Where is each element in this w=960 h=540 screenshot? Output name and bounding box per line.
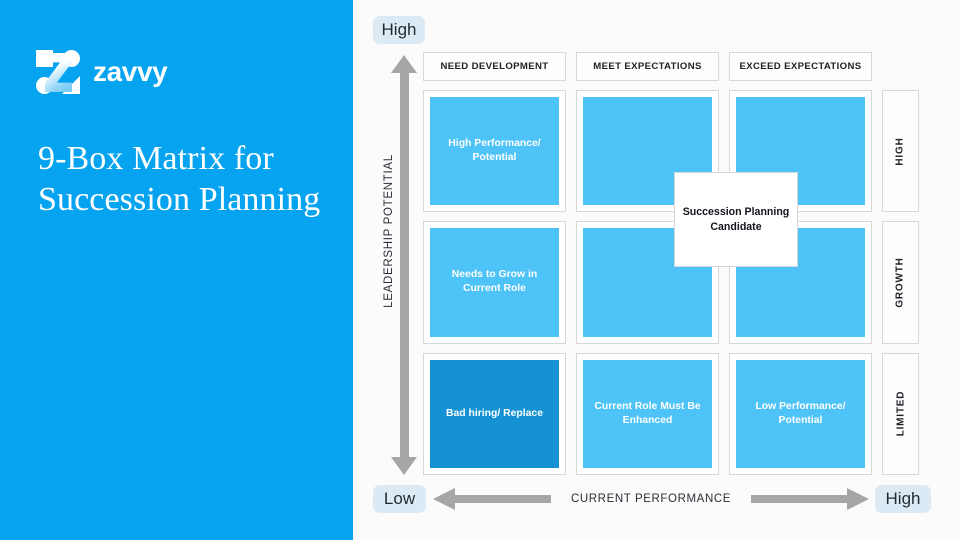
cell-growth-need-development[interactable]: Needs to Grow in Current Role <box>423 221 566 343</box>
arrow-left-icon <box>433 488 551 510</box>
arrow-right-head <box>847 488 869 510</box>
cell-limited-exceed-expectations[interactable]: Low Performance/ Potential <box>729 353 872 475</box>
cell-tile: Low Performance/ Potential <box>736 360 865 468</box>
cell-tile: Current Role Must Be Enhanced <box>583 360 712 468</box>
column-header-meet-expectations: MEET EXPECTATIONS <box>576 52 719 81</box>
cell-high-need-development[interactable]: High Performance/ Potential <box>423 90 566 212</box>
nine-box-grid: NEED DEVELOPMENT MEET EXPECTATIONS EXCEE… <box>423 52 919 475</box>
row-label-text: HIGH <box>895 137 906 165</box>
row-label-limited: LIMITED <box>882 353 919 475</box>
arrow-shaft <box>451 495 551 503</box>
arrow-shaft <box>751 495 851 503</box>
column-header-need-development: NEED DEVELOPMENT <box>423 52 566 81</box>
brand-name: zavvy <box>93 56 167 88</box>
x-axis-label: CURRENT PERFORMANCE <box>551 493 751 505</box>
cell-tile: Bad hiring/ Replace <box>430 360 559 468</box>
x-axis: CURRENT PERFORMANCE <box>433 485 869 513</box>
cell-limited-need-development[interactable]: Bad hiring/ Replace <box>423 353 566 475</box>
arrow-down-head <box>391 457 417 475</box>
arrow-right-icon <box>751 488 869 510</box>
row-label-high: HIGH <box>882 90 919 212</box>
zavvy-logo-icon <box>36 50 80 94</box>
x-axis-low-pill: Low <box>373 485 426 513</box>
x-axis-high-pill: High <box>875 485 931 513</box>
slide-canvas: zavvy 9-Box Matrix for Succession Planni… <box>0 0 960 540</box>
cell-tile: High Performance/ Potential <box>430 97 559 205</box>
row-label-text: GROWTH <box>895 257 906 307</box>
cell-limited-meet-expectations[interactable]: Current Role Must Be Enhanced <box>576 353 719 475</box>
matrix-area: High LEADERSHIP POTENTIAL NEED DEVELOPME… <box>353 0 960 540</box>
page-title: 9-Box Matrix for Succession Planning <box>38 138 328 220</box>
y-axis-label: LEADERSHIP POTENTIAL <box>383 151 395 311</box>
row-label-text: LIMITED <box>895 391 906 437</box>
left-panel: zavvy 9-Box Matrix for Succession Planni… <box>0 0 353 540</box>
column-header-exceed-expectations: EXCEED EXPECTATIONS <box>729 52 872 81</box>
arrow-shaft <box>400 69 409 461</box>
succession-planning-candidate-callout[interactable]: Succession Planning Candidate <box>674 172 798 267</box>
arrow-left-head <box>433 488 455 510</box>
row-label-growth: GROWTH <box>882 221 919 343</box>
cell-tile: Needs to Grow in Current Role <box>430 228 559 336</box>
header-corner-spacer <box>882 52 919 81</box>
y-axis-high-pill: High <box>373 16 425 44</box>
logo-z-shape <box>45 53 72 92</box>
brand-lockup: zavvy <box>36 50 167 94</box>
